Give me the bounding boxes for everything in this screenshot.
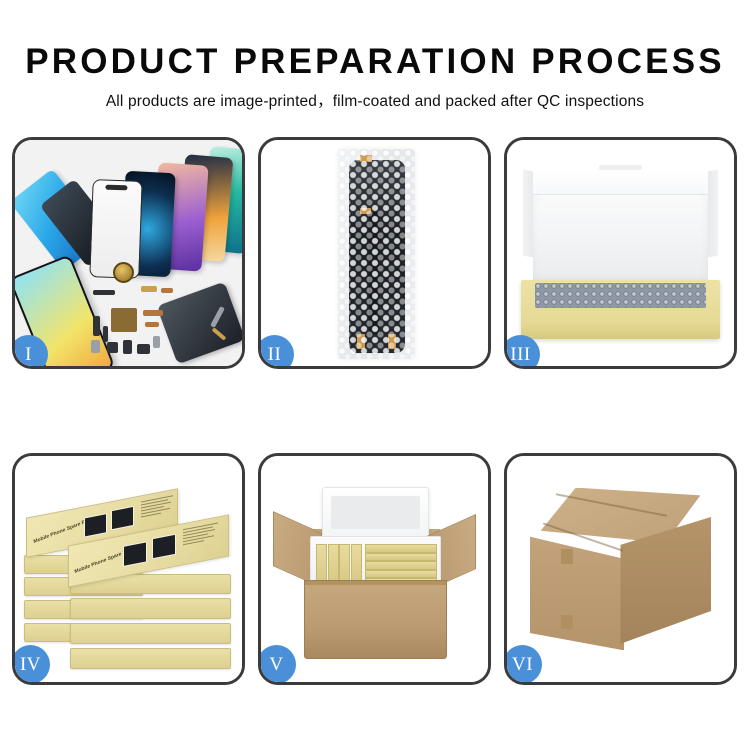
parts-collage-illustration — [15, 140, 242, 366]
step-badge-4: IV — [15, 645, 50, 682]
open-yellow-box-illustration — [521, 167, 721, 339]
step-badge-3: III — [507, 335, 540, 366]
step-badge-6: VI — [507, 645, 542, 682]
process-step-panel-1: I — [12, 137, 245, 369]
process-step-panel-2: II — [258, 137, 491, 369]
carton-with-foam-illustration — [277, 483, 472, 659]
process-step-grid: I II — [12, 137, 738, 692]
step-badge-2: II — [261, 335, 294, 366]
step-5-image: V — [261, 456, 488, 682]
process-step-panel-4: Mobile Phone Spare Parts Mobile Phone Sp… — [12, 453, 245, 685]
step-1-image: I — [15, 140, 242, 366]
process-step-panel-3: III — [504, 137, 737, 369]
page-subtitle: All products are image-printed，film-coat… — [0, 84, 750, 112]
page-title: PRODUCT PREPARATION PROCESS — [0, 0, 750, 84]
step-badge-5: V — [261, 645, 296, 682]
step-2-image: II — [261, 140, 488, 366]
header: PRODUCT PREPARATION PROCESS All products… — [0, 0, 750, 112]
sealed-carton-illustration — [530, 488, 712, 651]
step-4-image: Mobile Phone Spare Parts Mobile Phone Sp… — [15, 456, 242, 682]
step-6-image: VI — [507, 456, 734, 682]
product-preparation-infographic: PRODUCT PREPARATION PROCESS All products… — [0, 0, 750, 750]
stacked-boxes-illustration: Mobile Phone Spare Parts Mobile Phone Sp… — [24, 479, 233, 669]
process-step-panel-5: V — [258, 453, 491, 685]
bubble-wrap-bag-illustration — [338, 149, 415, 359]
process-step-panel-6: VI — [504, 453, 737, 685]
step-3-image: III — [507, 140, 734, 366]
